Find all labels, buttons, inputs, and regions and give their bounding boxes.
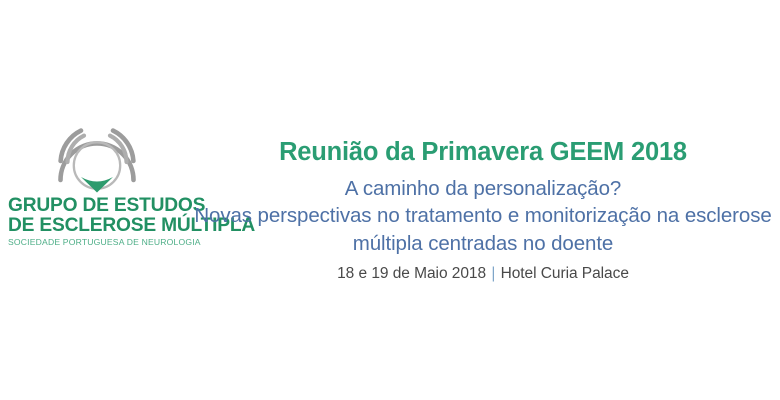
geem-logo: GRUPO DE ESTUDOS DE ESCLEROSE MÚLTIPLA S…: [8, 128, 186, 250]
event-details: 18 e 19 de Maio 2018 | Hotel Curia Palac…: [186, 257, 780, 285]
event-subtitle-line-3: múltipla centradas no doente: [186, 230, 780, 257]
event-subtitle-line-2: Novas perspectivas no tratamento e monit…: [186, 202, 780, 229]
logo-wordmark-line-2: DE ESCLEROSE MÚLTIPLA: [8, 216, 186, 236]
geem-brain-arcs-mark: [48, 128, 146, 194]
event-venue: Hotel Curia Palace: [501, 265, 629, 282]
logo-wordmark-line-3: SOCIEDADE PORTUGUESA DE NEUROLOGIA: [8, 238, 186, 247]
event-subtitle-line-1: A caminho da personalização?: [186, 175, 780, 202]
geem-wordmark: GRUPO DE ESTUDOS DE ESCLEROSE MÚLTIPLA S…: [8, 196, 186, 246]
event-banner: GRUPO DE ESTUDOS DE ESCLEROSE MÚLTIPLA S…: [0, 0, 780, 400]
event-details-separator: |: [490, 265, 496, 282]
event-dates: 18 e 19 de Maio 2018: [337, 265, 486, 282]
event-title: Reunião da Primavera GEEM 2018: [186, 134, 780, 169]
event-text-block: Reunião da Primavera GEEM 2018 A caminho…: [186, 134, 780, 285]
logo-wordmark-line-1: GRUPO DE ESTUDOS: [8, 196, 186, 216]
event-subtitle: A caminho da personalização? Novas persp…: [186, 169, 780, 257]
